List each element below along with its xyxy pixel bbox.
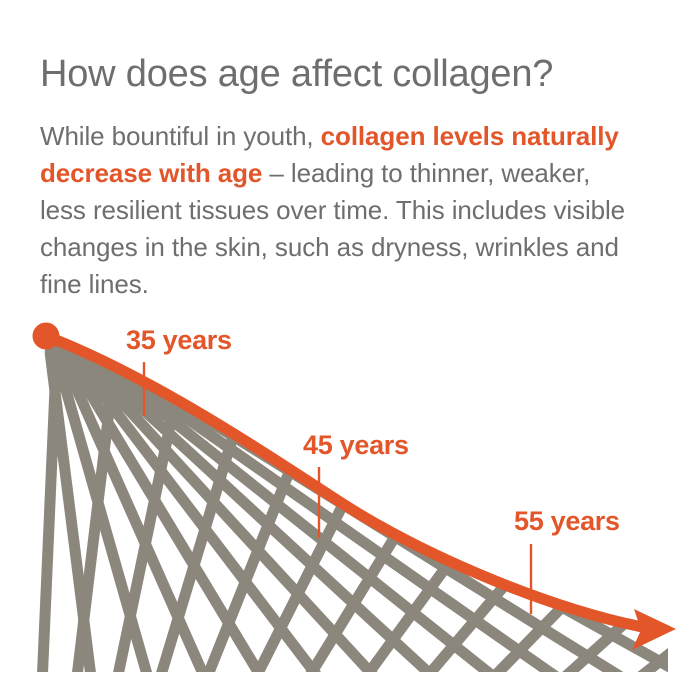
body-paragraph: While bountiful in youth, collagen level…: [40, 118, 640, 303]
page-title: How does age affect collagen?: [40, 51, 660, 97]
collagen-age-infographic: How does age affect collagen? While boun…: [0, 0, 700, 700]
annotation-45-years: 45 years: [303, 430, 409, 538]
annotation-55-years: 55 years: [514, 506, 620, 614]
body-segment-1: While bountiful in youth,: [40, 121, 321, 151]
collagen-decline-chart: 35 years 45 years 55 years: [0, 290, 700, 700]
chart-svg: 35 years 45 years 55 years: [0, 290, 700, 700]
annotation-35-years-label: 35 years: [126, 325, 232, 355]
annotation-45-years-label: 45 years: [303, 430, 409, 460]
annotation-55-years-label: 55 years: [514, 506, 620, 536]
curve-start-dot: [33, 323, 60, 350]
